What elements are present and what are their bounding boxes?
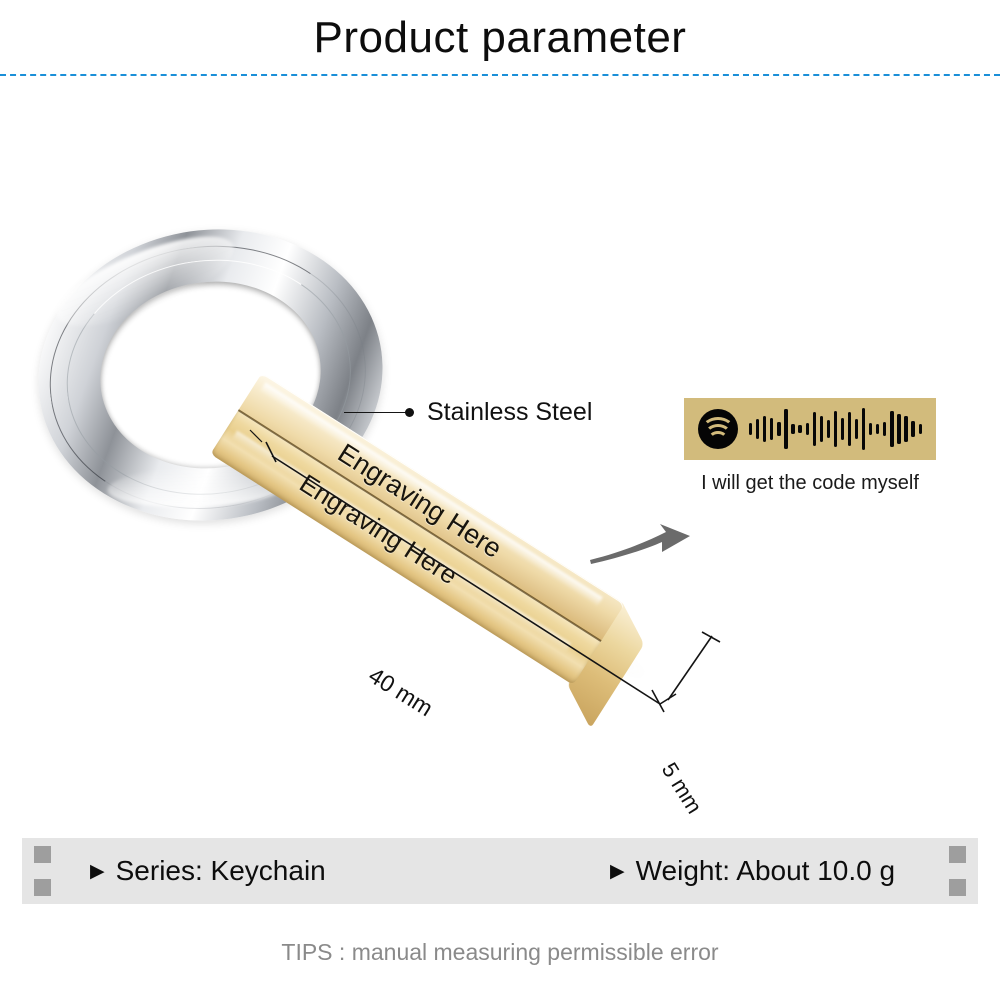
dim-40-tick-end [652, 690, 664, 712]
spotify-scan-bars [749, 408, 922, 450]
spotify-scan-bar [855, 419, 858, 439]
spotify-scan-bar [883, 422, 886, 436]
spotify-scan-bar [806, 423, 809, 435]
spotify-scan-bar [862, 408, 865, 450]
callout-label: Stainless Steel [427, 398, 592, 426]
arrow-right-icon [588, 522, 692, 568]
spec-series-label: Series: Keychain [116, 855, 326, 887]
spotify-scan-bar [897, 414, 900, 444]
spotify-scan-bar [770, 418, 773, 440]
spotify-scan-bar [791, 424, 794, 434]
dim-5-tick-start [660, 694, 676, 704]
bar-edge-seam [238, 409, 602, 641]
spec-weight-label: Weight: About 10.0 g [636, 855, 895, 887]
bullet-triangle-icon: ▶ [90, 862, 105, 881]
spotify-caption: I will get the code myself [684, 471, 936, 495]
spotify-scan-bar [813, 412, 816, 446]
spec-row: ▶ Series: Keychain ▶ Weight: About 10.0 … [22, 838, 978, 904]
spotify-scan-bar [784, 409, 787, 449]
bullet-triangle-icon: ▶ [610, 862, 625, 881]
spotify-scan-bar [876, 424, 879, 434]
spotify-scan-bar [820, 416, 823, 442]
spotify-logo-icon [698, 409, 738, 449]
page-title: Product parameter [0, 12, 1000, 64]
spotify-scan-bar [763, 416, 766, 442]
spotify-scan-bar [777, 422, 780, 436]
dimension-label-width: 5 mm [656, 758, 707, 818]
product-illustration: Engraving Here Engraving Here 40 mm 5 mm… [0, 90, 1000, 820]
spotify-scan-bar [841, 418, 844, 440]
spotify-wave-inner [708, 431, 728, 448]
spotify-scan-bar [890, 411, 893, 447]
spotify-scan-bar [834, 411, 837, 447]
spec-item-weight: ▶ Weight: About 10.0 g [610, 855, 895, 887]
title-divider [0, 74, 1000, 76]
spotify-scan-bar [848, 412, 851, 446]
tips-note: TIPS : manual measuring permissible erro… [0, 938, 1000, 966]
spotify-code-panel [684, 398, 936, 460]
dim-5-line [668, 636, 712, 700]
dimension-label-length: 40 mm [364, 662, 438, 722]
leader-dot-icon [405, 408, 414, 417]
spotify-scan-bar [919, 424, 922, 434]
spec-item-series: ▶ Series: Keychain [90, 855, 326, 887]
callout-stainless-steel: Stainless Steel [344, 398, 592, 426]
spotify-scan-bar [911, 421, 914, 437]
spotify-scan-bar [904, 416, 907, 442]
dim-5-tick-end [702, 632, 720, 642]
spotify-code-block: I will get the code myself [684, 398, 936, 495]
spotify-scan-bar [798, 425, 801, 433]
spotify-scan-bar [827, 420, 830, 438]
spotify-scan-bar [749, 423, 752, 435]
spotify-scan-bar [756, 419, 759, 439]
spec-panel: ▶ Series: Keychain ▶ Weight: About 10.0 … [22, 838, 978, 904]
spotify-scan-bar [869, 423, 872, 435]
arrow-shape [590, 524, 690, 564]
callout-leader-line [344, 412, 406, 413]
